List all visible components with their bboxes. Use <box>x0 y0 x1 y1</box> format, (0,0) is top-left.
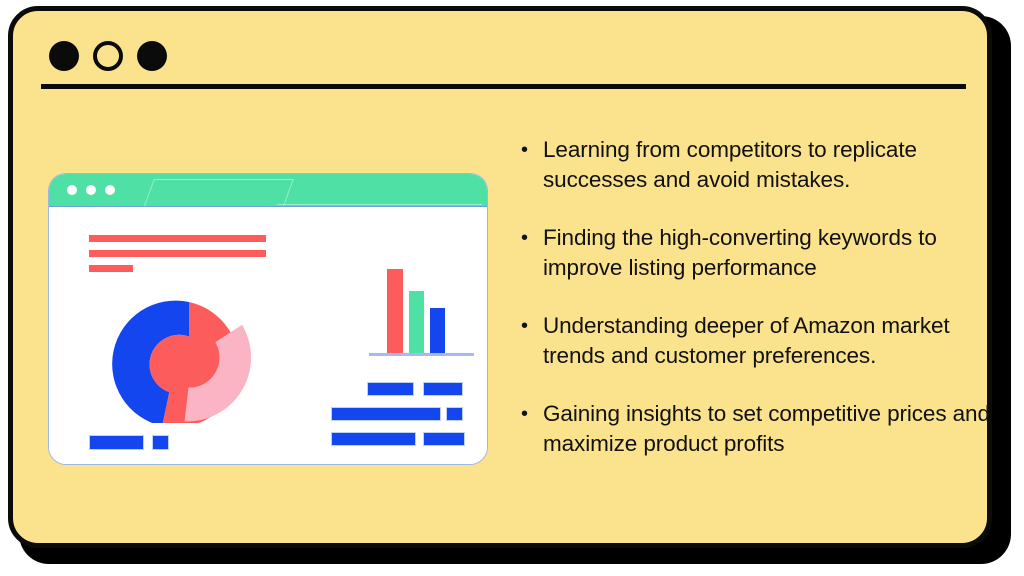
bullet-text-3: Understanding deeper of Amazon market tr… <box>543 311 1001 371</box>
window-controls <box>49 41 167 71</box>
header-divider <box>41 84 966 89</box>
bar-chart <box>369 265 474 357</box>
list-item: • Gaining insights to set competitive pr… <box>521 399 1001 459</box>
browser-dot-2-icon <box>86 185 96 195</box>
red-line-long-1 <box>89 235 266 242</box>
bullet-text-2: Finding the high-converting keywords to … <box>543 223 1001 283</box>
row1-block2 <box>423 382 463 396</box>
bar-1 <box>387 269 403 353</box>
yellow-content-card: • Learning from competitors to replicate… <box>8 6 992 548</box>
bullet-marker-icon: • <box>521 135 543 165</box>
slide-canvas: • Learning from competitors to replicate… <box>0 0 1024 576</box>
list-item: • Understanding deeper of Amazon market … <box>521 311 1001 371</box>
browser-titlebar <box>49 174 487 206</box>
dot-hollow-middle-icon[interactable] <box>93 41 123 71</box>
browser-titlebar-dots <box>67 185 115 195</box>
legend-chip-wide <box>89 435 144 450</box>
bullet-text-1: Learning from competitors to replicate s… <box>543 135 1001 195</box>
red-line-long-2 <box>89 250 266 257</box>
row2-block2 <box>446 407 463 421</box>
bullet-list: • Learning from competitors to replicate… <box>521 135 1001 487</box>
dot-filled-left-icon[interactable] <box>49 41 79 71</box>
red-line-short <box>89 265 133 272</box>
bar-chart-baseline <box>369 353 474 356</box>
donut-chart <box>109 295 269 420</box>
browser-tab-underline <box>277 204 482 205</box>
list-item: • Finding the high-converting keywords t… <box>521 223 1001 283</box>
row3-block1 <box>331 432 416 446</box>
bar-3 <box>430 308 445 353</box>
row1-block1 <box>367 382 414 396</box>
dot-filled-right-icon[interactable] <box>137 41 167 71</box>
donut-chart-svg <box>109 295 269 423</box>
browser-viewport <box>49 206 487 464</box>
legend-chip-small <box>152 435 169 450</box>
browser-mockup <box>48 173 488 465</box>
browser-dot-1-icon <box>67 185 77 195</box>
bar-2 <box>409 291 424 353</box>
bullet-marker-icon: • <box>521 311 543 341</box>
browser-tab[interactable] <box>144 179 294 206</box>
bullet-marker-icon: • <box>521 223 543 253</box>
bullet-marker-icon: • <box>521 399 543 429</box>
bullet-text-4: Gaining insights to set competitive pric… <box>543 399 1001 459</box>
browser-dot-3-icon <box>105 185 115 195</box>
row3-block2 <box>423 432 465 446</box>
row2-block1 <box>331 407 441 421</box>
list-item: • Learning from competitors to replicate… <box>521 135 1001 195</box>
